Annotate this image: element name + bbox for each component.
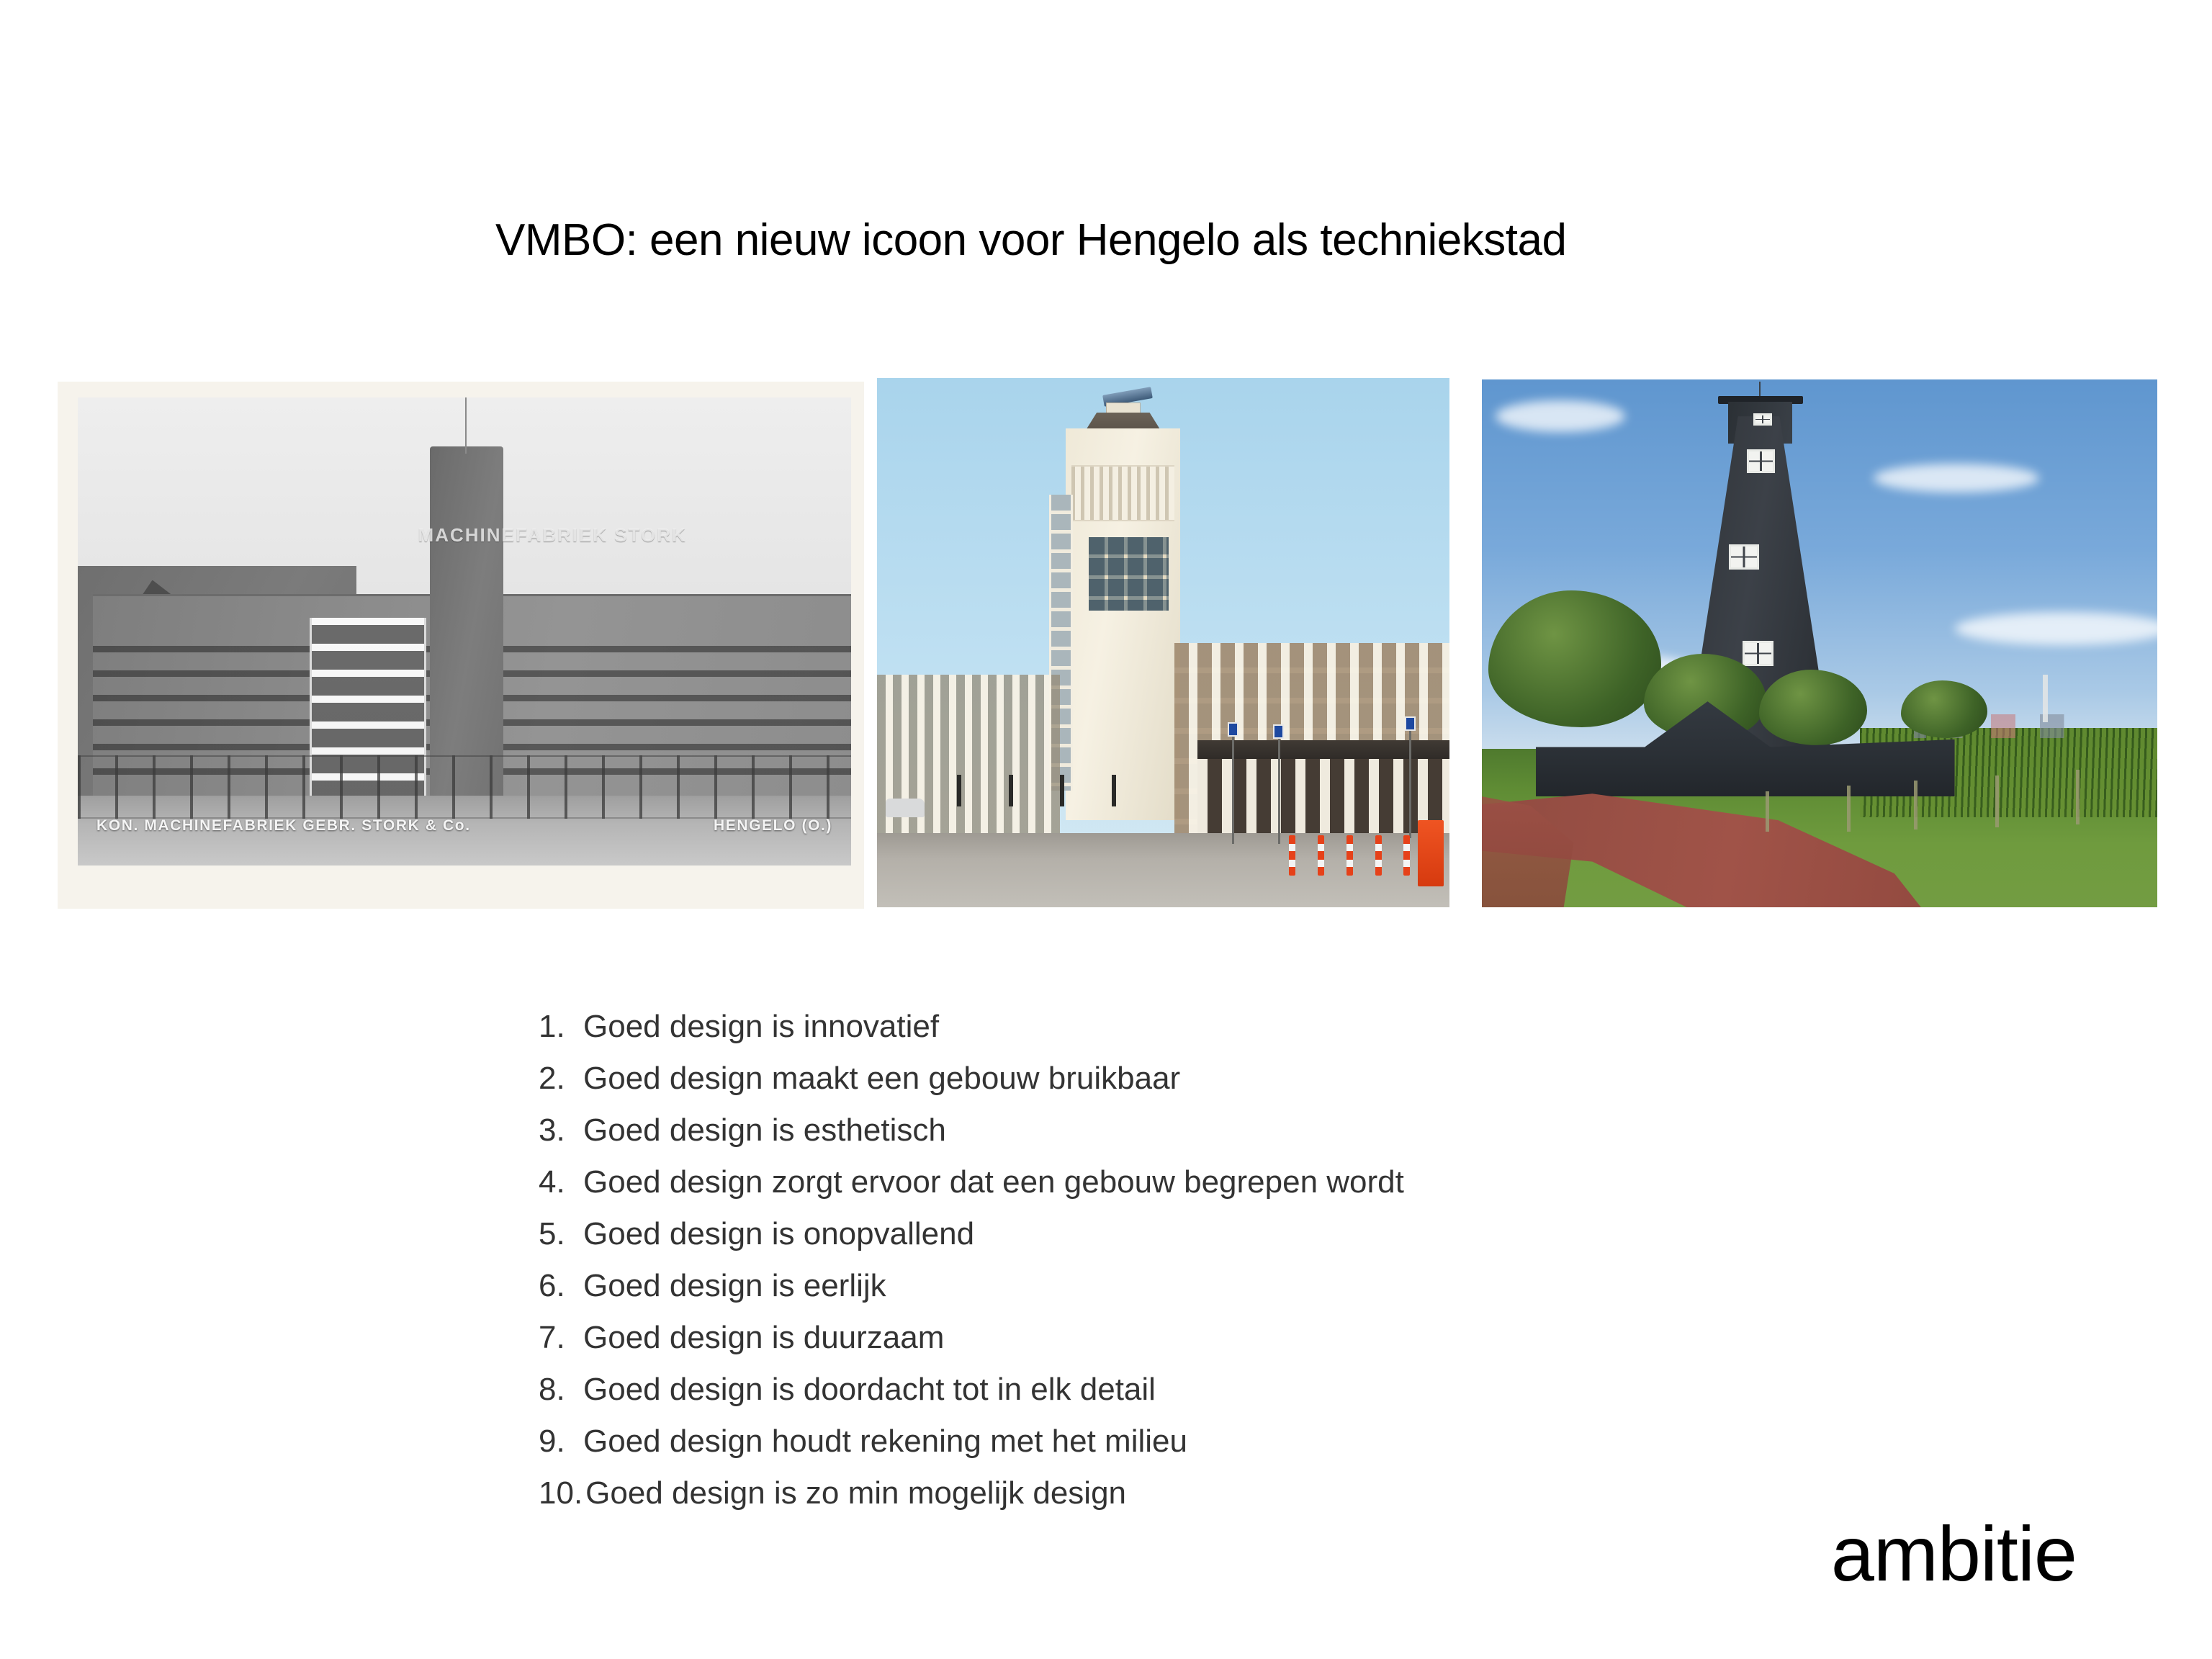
list-item: 9. Goed design houdt rekening met het mi…: [539, 1426, 1763, 1457]
colonnade-columns: [1197, 759, 1449, 844]
list-item-number: 8.: [539, 1374, 580, 1406]
list-item: 4. Goed design zorgt ervoor dat een gebo…: [539, 1166, 1763, 1198]
list-item-number: 10.: [539, 1478, 583, 1509]
sign-pole: [1232, 727, 1234, 844]
list-item-number: 7.: [539, 1322, 580, 1354]
list-item-label: Goed design maakt een gebouw bruikbaar: [583, 1063, 1180, 1094]
list-item-number: 2.: [539, 1063, 580, 1094]
factory-stair-tower: [430, 446, 503, 802]
mill-window: [1729, 544, 1758, 570]
tree: [1759, 670, 1867, 745]
parking-sign: [1405, 716, 1416, 731]
street-bollard: [957, 775, 961, 806]
street-bollard: [1060, 775, 1064, 806]
list-item-label: Goed design is eerlijk: [583, 1270, 886, 1302]
sign-pole: [1409, 722, 1411, 839]
tower-window-grid: [1089, 537, 1169, 611]
list-item: 7. Goed design is duurzaam: [539, 1322, 1763, 1354]
sign-pole: [1278, 727, 1280, 844]
fence-post: [1847, 786, 1851, 832]
list-item-label: Goed design is zo min mogelijk design: [585, 1478, 1126, 1509]
list-item-label: Goed design is onopvallend: [583, 1218, 974, 1250]
parked-car: [886, 799, 925, 817]
mill-lightning-rod: [1759, 382, 1761, 397]
mill-window: [1753, 413, 1772, 426]
list-item-number: 4.: [539, 1166, 580, 1198]
list-item: 10. Goed design is zo min mogelijk desig…: [539, 1478, 1763, 1509]
image-black-wooden-mill: [1482, 379, 2157, 907]
list-item: 6. Goed design is eerlijk: [539, 1270, 1763, 1302]
postcard-caption-right: HENGELO (O.): [714, 817, 832, 835]
cloud: [1955, 612, 2157, 645]
postcard-caption-left: KON. MACHINEFABRIEK GEBR. STORK & Co.: [96, 817, 471, 835]
fence-post: [1995, 775, 1999, 827]
parking-sign: [1273, 724, 1284, 739]
list-item: 5. Goed design is onopvallend: [539, 1218, 1763, 1250]
list-item-number: 6.: [539, 1270, 580, 1302]
list-item: 8. Goed design is doordacht tot in elk d…: [539, 1374, 1763, 1406]
street-bollard: [1009, 775, 1013, 806]
traffic-cone: [1403, 835, 1410, 876]
fence-post: [1766, 791, 1769, 832]
slide-title: VMBO: een nieuw icoon voor Hengelo als t…: [495, 216, 1566, 265]
road-barrier: [1418, 820, 1444, 886]
list-item-number: 9.: [539, 1426, 580, 1457]
street-ground: [877, 833, 1449, 907]
parking-sign: [1228, 722, 1238, 737]
photo-plate: MACHINEFABRIEK STORK KON. MACHINEFABRIEK…: [78, 397, 851, 866]
mill-window: [1747, 449, 1775, 474]
mill-window: [1743, 641, 1773, 666]
factory-flag-mast: [465, 397, 467, 454]
fence-post: [1914, 781, 1917, 829]
list-item-label: Goed design is doordacht tot in elk deta…: [583, 1374, 1156, 1406]
list-item: 3. Goed design is esthetisch: [539, 1115, 1763, 1146]
cloud: [1496, 400, 1625, 432]
traffic-cone: [1318, 835, 1324, 876]
list-item-label: Goed design zorgt ervoor dat een gebouw …: [583, 1166, 1404, 1198]
list-item: 1. Goed design is innovatief: [539, 1011, 1763, 1043]
image-stork-tower-building: [877, 378, 1449, 907]
factory-facade-sign: MACHINEFABRIEK STORK: [418, 524, 687, 547]
image-historic-factory-postcard: MACHINEFABRIEK STORK KON. MACHINEFABRIEK…: [58, 382, 864, 909]
fence-post: [2076, 770, 2080, 824]
list-item-number: 1.: [539, 1011, 580, 1043]
design-principles-list: 1. Goed design is innovatief 2. Goed des…: [539, 1011, 1763, 1529]
cloud: [1874, 464, 2039, 493]
list-item-number: 5.: [539, 1218, 580, 1250]
tower-glazed-band: [1071, 465, 1174, 521]
list-item-label: Goed design is duurzaam: [583, 1322, 944, 1354]
street-bollard: [1112, 775, 1116, 806]
footer-keyword: ambitie: [1831, 1515, 2077, 1593]
traffic-cone: [1375, 835, 1382, 876]
distant-chimney: [2043, 675, 2048, 722]
list-item-label: Goed design is esthetisch: [583, 1115, 946, 1146]
list-item: 2. Goed design maakt een gebouw bruikbaa…: [539, 1063, 1763, 1094]
list-item-number: 3.: [539, 1115, 580, 1146]
traffic-cone: [1289, 835, 1295, 876]
tree: [1901, 680, 1987, 738]
list-item-label: Goed design is innovatief: [583, 1011, 939, 1043]
postcard-caption-strip: KON. MACHINEFABRIEK GEBR. STORK & Co. HE…: [78, 805, 851, 848]
traffic-cone: [1346, 835, 1353, 876]
list-item-label: Goed design houdt rekening met het milie…: [583, 1426, 1187, 1457]
